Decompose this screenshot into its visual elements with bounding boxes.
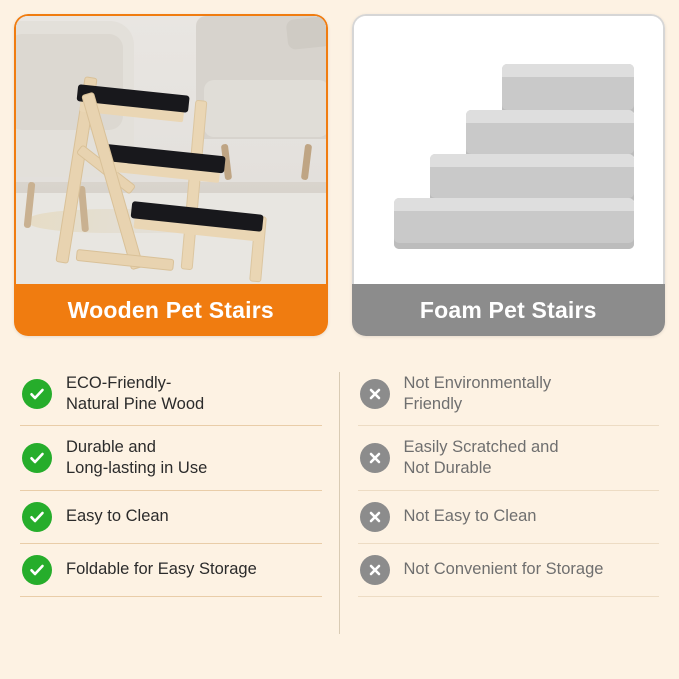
wooden-stairs-product: [62, 72, 292, 272]
list-item: Easy to Clean: [20, 491, 322, 544]
stairs-leg: [181, 100, 208, 270]
cross-icon: [360, 555, 390, 585]
left-product-column: Wooden Pet Stairs ECO-Friendly- Natural …: [14, 14, 328, 597]
comparison-page: Wooden Pet Stairs ECO-Friendly- Natural …: [0, 0, 679, 679]
list-item: Not Environmentally Friendly: [358, 362, 660, 426]
list-item: Not Easy to Clean: [358, 491, 660, 544]
left-feature-list: ECO-Friendly- Natural Pine Wood Durable …: [14, 362, 328, 597]
right-product-column: Foam Pet Stairs Not Environmentally Frie…: [352, 14, 666, 597]
feature-text: Foldable for Easy Storage: [66, 559, 257, 580]
list-item: ECO-Friendly- Natural Pine Wood: [20, 362, 322, 426]
list-item: Foldable for Easy Storage: [20, 544, 322, 597]
foam-step-top: [466, 110, 634, 123]
foam-pet-stairs-card: Foam Pet Stairs: [352, 14, 666, 336]
check-icon: [22, 555, 52, 585]
column-divider: [339, 372, 340, 634]
right-feature-list: Not Environmentally Friendly Easily Scra…: [352, 362, 666, 597]
foam-step: [430, 154, 634, 204]
feature-text: Easy to Clean: [66, 506, 169, 527]
living-room-scene: [16, 16, 326, 284]
cross-icon: [360, 379, 390, 409]
wooden-pet-stairs-card: Wooden Pet Stairs: [14, 14, 328, 336]
foam-step: [466, 110, 634, 160]
feature-text: Easily Scratched and Not Durable: [404, 437, 559, 478]
foam-step: [394, 198, 634, 249]
white-background-scene: [354, 16, 664, 284]
check-icon: [22, 443, 52, 473]
check-icon: [22, 502, 52, 532]
feature-text: Durable and Long-lasting in Use: [66, 437, 207, 478]
feature-text: Not Convenient for Storage: [404, 559, 604, 580]
list-item: Durable and Long-lasting in Use: [20, 426, 322, 490]
stairs-foot: [76, 249, 175, 271]
foam-step-top: [430, 154, 634, 167]
feature-text: Not Easy to Clean: [404, 506, 537, 527]
feature-text: ECO-Friendly- Natural Pine Wood: [66, 373, 204, 414]
list-item: Not Convenient for Storage: [358, 544, 660, 597]
stairs-rail: [81, 92, 144, 271]
cross-icon: [360, 502, 390, 532]
stairs-step: [78, 84, 189, 96]
wooden-pet-stairs-photo: [14, 14, 328, 284]
foam-stairs-product: [394, 64, 634, 249]
foam-pet-stairs-photo: [352, 14, 666, 284]
foam-pet-stairs-title: Foam Pet Stairs: [352, 284, 666, 336]
cross-icon: [360, 443, 390, 473]
wooden-pet-stairs-title: Wooden Pet Stairs: [14, 284, 328, 336]
foam-step-top: [502, 64, 634, 77]
check-icon: [22, 379, 52, 409]
foam-step: [502, 64, 634, 116]
stairs-step: [102, 144, 225, 157]
list-item: Easily Scratched and Not Durable: [358, 426, 660, 490]
feature-text: Not Environmentally Friendly: [404, 373, 552, 414]
foam-step-top: [394, 198, 634, 211]
pillow: [285, 16, 327, 50]
